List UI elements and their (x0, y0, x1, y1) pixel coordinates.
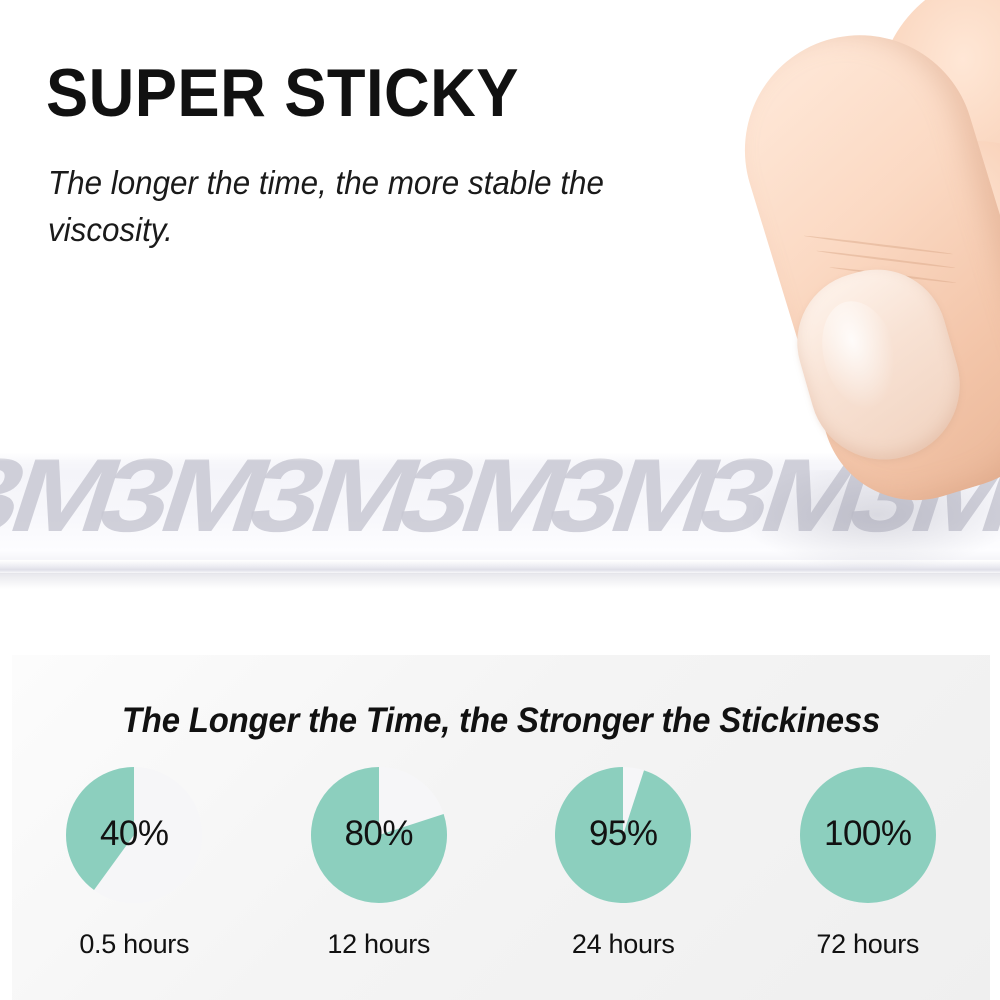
hand-photo (720, 0, 1000, 550)
product-infographic-page: SUPER STICKY The longer the time, the mo… (0, 0, 1000, 1000)
pie-chart-item: 100% 72 hours (763, 767, 973, 960)
page-title: SUPER STICKY (46, 58, 519, 129)
pie-chart-0-graphic (66, 767, 202, 903)
chart-title: The Longer the Time, the Stronger the St… (41, 701, 960, 741)
tape-drop-shadow (0, 573, 1000, 589)
pie-chart-item: 95% 24 hours (518, 767, 728, 960)
pie-chart-2-graphic (555, 767, 691, 903)
pie-chart-3: 100% (800, 767, 936, 903)
stickiness-chart-panel: The Longer the Time, the Stronger the St… (0, 655, 1000, 1000)
pie-chart-item: 40% 0.5 hours (29, 767, 239, 960)
pie-chart-3-graphic (800, 767, 936, 903)
pie-chart-group: 40% 0.5 hours 80% 12 hours (12, 767, 990, 960)
pie-chart-0: 40% (66, 767, 202, 903)
pie-chart-1-graphic (311, 767, 447, 903)
pie-filled-wedge (800, 767, 936, 903)
pie-chart-2: 95% (555, 767, 691, 903)
pie-category-label: 12 hours (274, 929, 484, 960)
pie-category-label: 24 hours (518, 929, 728, 960)
pie-chart-item: 80% 12 hours (274, 767, 484, 960)
chart-panel-background: The Longer the Time, the Stronger the St… (12, 655, 990, 1000)
hero-subtitle: The longer the time, the more stable the… (48, 160, 694, 254)
pie-category-label: 0.5 hours (29, 929, 239, 960)
pie-chart-1: 80% (311, 767, 447, 903)
hero-panel: SUPER STICKY The longer the time, the mo… (0, 0, 1000, 620)
pie-category-label: 72 hours (763, 929, 973, 960)
